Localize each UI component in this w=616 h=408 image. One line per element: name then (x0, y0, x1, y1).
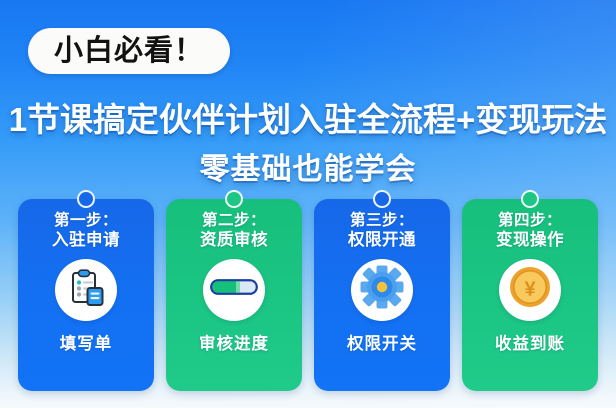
highlight-badge-label: 小白必看！ (54, 37, 204, 66)
svg-text:¥: ¥ (524, 279, 536, 301)
step-card-4-step-label: 第四步： (498, 212, 562, 231)
clipboard-form-icon (65, 266, 107, 313)
step-card-2-title: 资质审核 (200, 231, 268, 251)
steps-row: 第一步： 入驻申请 (18, 199, 598, 391)
step-card-1-title: 入驻申请 (52, 231, 120, 251)
highlight-badge: 小白必看！ (28, 28, 230, 74)
step-card-2-step-label: 第二步： (202, 212, 266, 231)
step-card-2-icon-wrap (203, 259, 265, 321)
step-card-3-caption: 权限开关 (347, 330, 417, 354)
step-card-3-icon-wrap (351, 259, 413, 321)
step-card-1[interactable]: 第一步： 入驻申请 (18, 199, 154, 391)
headline-main: 1节课搞定伙伴计划入驻全流程+变现玩法 (0, 93, 616, 141)
step-card-3[interactable]: 第三步： 权限开通 (314, 199, 450, 391)
step-card-4-caption: 收益到账 (495, 330, 565, 354)
step-card-1-icon-wrap (55, 259, 117, 321)
step-card-3-title: 权限开通 (348, 231, 416, 251)
step-card-1-caption: 填写单 (60, 330, 113, 354)
step-marker-dot-icon (521, 190, 539, 208)
yuan-coin-icon: ¥ (508, 265, 552, 314)
step-card-1-step-label: 第一步： (54, 212, 118, 231)
step-marker-dot-icon (77, 190, 95, 208)
step-card-2[interactable]: 第二步： 资质审核 审核进度 (166, 199, 302, 391)
step-card-4-icon-wrap: ¥ (499, 259, 561, 321)
promo-poster: 小白必看！ 1节课搞定伙伴计划入驻全流程+变现玩法 零基础也能学会 第一步： 入… (0, 0, 616, 408)
step-card-4-title: 变现操作 (496, 231, 564, 251)
progress-bar-icon (210, 276, 258, 303)
headline-sub: 零基础也能学会 (0, 144, 616, 188)
step-card-4[interactable]: 第四步： 变现操作 ¥ 收益到账 (462, 199, 598, 391)
gear-settings-icon (359, 264, 405, 315)
step-card-2-caption: 审核进度 (199, 330, 269, 354)
step-marker-dot-icon (373, 190, 391, 208)
step-card-3-step-label: 第三步： (350, 212, 414, 231)
step-marker-dot-icon (225, 190, 243, 208)
